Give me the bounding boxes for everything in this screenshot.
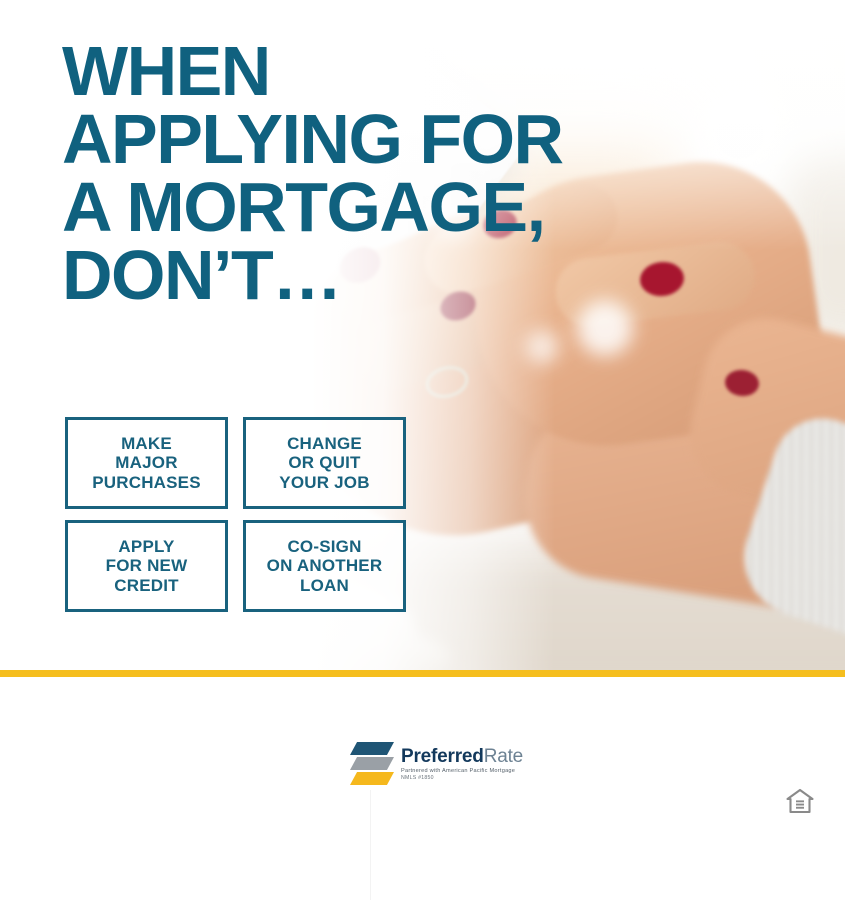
dont-box-line: LOAN	[267, 576, 383, 595]
headline: WHEN APPLYING FOR A MORTGAGE, DON’T…	[62, 38, 702, 310]
dont-box-line: MAJOR	[92, 453, 201, 472]
dont-box-line: APPLY	[106, 537, 188, 556]
logo-tagline: Partnered with American Pacific Mortgage	[401, 769, 523, 775]
logo-bar-middle	[350, 757, 394, 770]
dont-box-change-or-quit-your-job: CHANGE OR QUIT YOUR JOB	[243, 417, 406, 509]
dont-box-line: FOR NEW	[106, 556, 188, 575]
dont-box-make-major-purchases: MAKE MAJOR PURCHASES	[65, 417, 228, 509]
dont-list: MAKE MAJOR PURCHASES CHANGE OR QUIT YOUR…	[65, 417, 406, 623]
dont-box-label: APPLY FOR NEW CREDIT	[106, 537, 188, 594]
preferred-rate-logo: PreferredRate Partnered with American Pa…	[350, 742, 523, 786]
dont-box-co-sign-on-another-loan: CO-SIGN ON ANOTHER LOAN	[243, 520, 406, 612]
logo-bar-bottom	[350, 772, 394, 785]
logo-wordmark: PreferredRate	[401, 747, 523, 766]
dont-list-row-1: MAKE MAJOR PURCHASES CHANGE OR QUIT YOUR…	[65, 417, 406, 509]
logo-wordmark-preferred: Preferred	[401, 746, 484, 767]
dont-box-apply-for-new-credit: APPLY FOR NEW CREDIT	[65, 520, 228, 612]
dont-list-row-2: APPLY FOR NEW CREDIT CO-SIGN ON ANOTHER …	[65, 520, 406, 612]
dont-box-label: MAKE MAJOR PURCHASES	[92, 434, 201, 491]
logo-wordmark-rate: Rate	[484, 746, 523, 767]
headline-line-4: DON’T…	[62, 242, 702, 310]
logo-bar-top	[350, 742, 394, 755]
dont-box-line: CHANGE	[279, 434, 369, 453]
dont-box-line: MAKE	[92, 434, 201, 453]
dont-box-line: OR QUIT	[279, 453, 369, 472]
hero-banner: WHEN APPLYING FOR A MORTGAGE, DON’T… MAK…	[0, 0, 845, 672]
dont-box-line: CO-SIGN	[267, 537, 383, 556]
dont-box-label: CHANGE OR QUIT YOUR JOB	[279, 434, 369, 491]
headline-line-2: APPLYING FOR	[62, 106, 702, 174]
footer	[0, 677, 845, 900]
logo-text-block: PreferredRate Partnered with American Pa…	[401, 747, 523, 781]
preferred-rate-mark-icon	[350, 742, 394, 786]
gold-divider-bar	[0, 670, 845, 677]
footer-panel-edge	[370, 790, 371, 900]
dont-box-line: YOUR JOB	[279, 473, 369, 492]
headline-line-3: A MORTGAGE,	[62, 174, 702, 242]
equal-housing-opportunity-icon	[786, 788, 814, 814]
dont-box-label: CO-SIGN ON ANOTHER LOAN	[267, 537, 383, 594]
dont-box-line: ON ANOTHER	[267, 556, 383, 575]
dont-box-line: CREDIT	[106, 576, 188, 595]
dont-box-line: PURCHASES	[92, 473, 201, 492]
headline-line-1: WHEN	[62, 38, 702, 106]
logo-nmls-number: NMLS #1850	[401, 776, 523, 781]
